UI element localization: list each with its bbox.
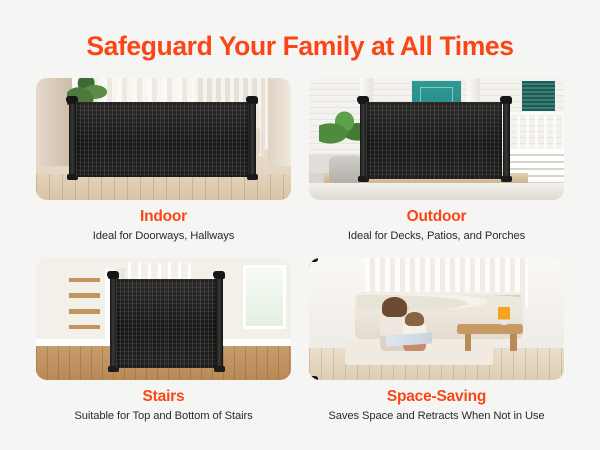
feature-grid: Indoor Ideal for Doorways, Hallways xyxy=(0,78,600,428)
feature-image-outdoor xyxy=(309,78,564,200)
outdoor-scene-illustration xyxy=(309,78,564,200)
feature-subtitle-space-saving: Saves Space and Retracts When Not in Use xyxy=(328,409,544,423)
feature-title-indoor: Indoor xyxy=(140,208,187,226)
feature-cell-stairs: Stairs Suitable for Top and Bottom of St… xyxy=(36,258,291,428)
indoor-scene-illustration xyxy=(36,78,291,200)
feature-cell-space-saving: Space-Saving Saves Space and Retracts Wh… xyxy=(309,258,564,428)
feature-cell-outdoor: Outdoor Ideal for Decks, Patios, and Por… xyxy=(309,78,564,248)
feature-cell-indoor: Indoor Ideal for Doorways, Hallways xyxy=(36,78,291,248)
feature-subtitle-stairs: Suitable for Top and Bottom of Stairs xyxy=(74,409,252,423)
feature-title-outdoor: Outdoor xyxy=(407,208,467,226)
stairs-scene-illustration xyxy=(36,258,291,380)
page-title: Safeguard Your Family at All Times xyxy=(0,29,600,63)
feature-title-space-saving: Space-Saving xyxy=(387,388,486,406)
feature-image-space-saving xyxy=(309,258,564,380)
feature-subtitle-indoor: Ideal for Doorways, Hallways xyxy=(93,229,234,243)
promo-poster: Safeguard Your Family at All Times xyxy=(0,0,600,450)
feature-subtitle-outdoor: Ideal for Decks, Patios, and Porches xyxy=(348,229,525,243)
feature-image-indoor xyxy=(36,78,291,200)
feature-image-stairs xyxy=(36,258,291,380)
space-saving-scene-illustration xyxy=(309,258,564,380)
feature-title-stairs: Stairs xyxy=(143,388,185,406)
